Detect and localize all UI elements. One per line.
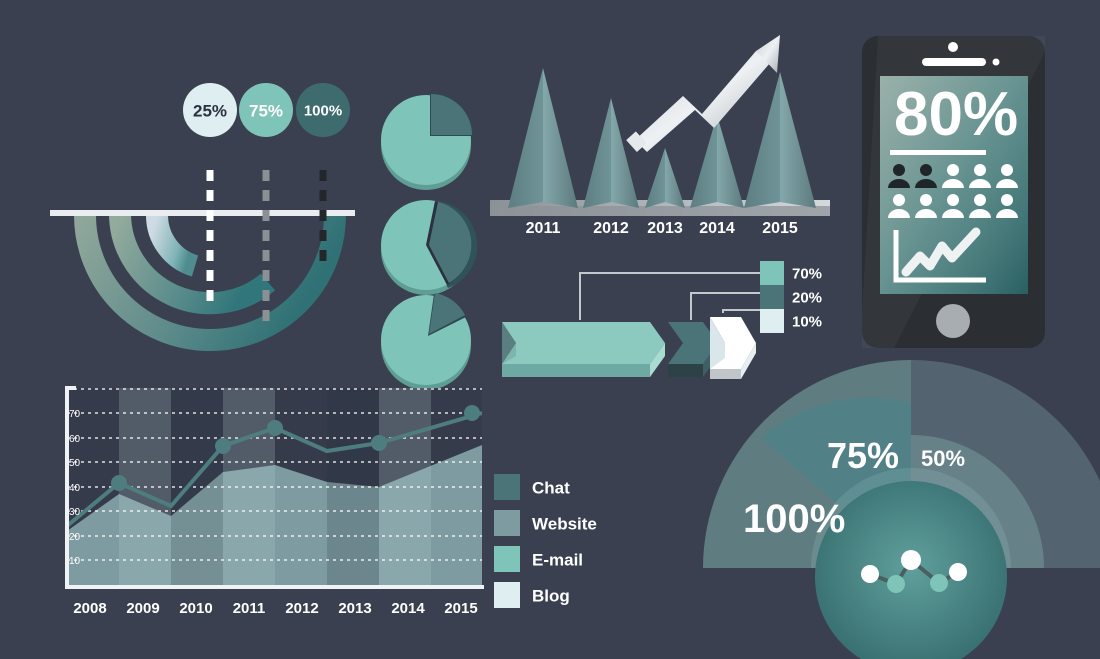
phone-headline: 80% <box>894 80 1018 149</box>
spike-2013[interactable] <box>645 148 685 208</box>
spike-base-side <box>490 206 830 216</box>
line-marker <box>371 435 387 451</box>
core-dot <box>887 575 905 593</box>
arc-baseline <box>50 210 355 216</box>
line-marker <box>215 438 231 454</box>
pie-small-wedge[interactable] <box>381 293 471 390</box>
pie-half[interactable] <box>381 200 477 295</box>
funnel-segment-10[interactable] <box>710 317 756 379</box>
funnel-legend-label-20: 20% <box>792 290 822 307</box>
leader-line-20 <box>691 293 760 320</box>
area-year-2012: 2012 <box>285 600 318 617</box>
spike-chart: 2011 2012 2013 2014 2015 <box>490 30 845 245</box>
core-dot <box>930 574 948 592</box>
leader-line-70 <box>580 273 760 320</box>
ytick-40: 40 <box>69 483 81 494</box>
spike-year-2011: 2011 <box>526 220 561 237</box>
phone-sensor-icon <box>993 59 1000 66</box>
phone-mockup: 80% <box>858 32 1058 362</box>
spike-year-2013: 2013 <box>647 220 683 237</box>
ytick-60: 60 <box>69 434 81 445</box>
area-year-2013: 2013 <box>338 600 371 617</box>
legend-item-blog[interactable]: Blog <box>494 582 570 608</box>
radial-arcs-widget: 25% 75% 100% <box>40 60 380 390</box>
area-year-2015: 2015 <box>444 600 477 617</box>
area-year-2009: 2009 <box>126 600 159 617</box>
area-year-2011: 2011 <box>233 600 266 617</box>
spike-year-2012: 2012 <box>593 220 629 237</box>
phone-home-button[interactable] <box>936 304 970 338</box>
ytick-10: 10 <box>69 556 81 567</box>
legend-label-email: E-mail <box>532 551 583 570</box>
badge-25[interactable]: 25% <box>183 83 237 137</box>
phone-divider <box>890 150 986 155</box>
funnel-legend-swatch-70[interactable] <box>760 261 784 285</box>
infographic-canvas: 25% 75% 100% <box>0 0 1100 659</box>
spike-2011[interactable] <box>508 68 578 208</box>
phone-camera-icon <box>948 42 958 52</box>
area-year-2008: 2008 <box>73 600 106 617</box>
core-dot <box>949 563 967 581</box>
spike-2012[interactable] <box>583 98 639 208</box>
line-marker <box>464 405 480 421</box>
ytick-20: 20 <box>69 532 81 543</box>
funnel-legend-label-10: 10% <box>792 314 822 331</box>
spike-year-2014: 2014 <box>699 220 735 237</box>
spike-2014[interactable] <box>690 115 744 208</box>
gauge-label-50: 50% <box>921 446 965 471</box>
legend-item-website[interactable]: Website <box>494 510 597 536</box>
funnel-bar-chart: 70% 20% 10% <box>498 255 833 380</box>
legend-item-email[interactable]: E-mail <box>494 546 583 572</box>
area-line-chart: 10 20 30 40 50 60 70 2008 2009 2010 2011… <box>42 378 512 623</box>
legend-item-chat[interactable]: Chat <box>494 474 570 500</box>
badge-100-label: 100% <box>304 103 342 120</box>
funnel-segment-70[interactable] <box>502 322 665 377</box>
legend-swatch-website <box>494 510 520 536</box>
badge-25-label: 25% <box>193 102 227 121</box>
ytick-70: 70 <box>69 409 81 420</box>
gauge-label-100: 100% <box>743 497 845 541</box>
legend-label-website: Website <box>532 515 597 534</box>
area-chart-legend: Chat Website E-mail Blog <box>492 468 632 608</box>
funnel-legend: 70% 20% 10% <box>760 261 822 333</box>
legend-swatch-email <box>494 546 520 572</box>
legend-swatch-blog <box>494 582 520 608</box>
radial-gauge-widget: 100% 75% 50% <box>690 382 1080 647</box>
leader-line-10 <box>723 310 760 313</box>
spike-2015[interactable] <box>744 72 816 208</box>
phone-speaker-icon <box>922 58 986 66</box>
pie-charts-column <box>378 45 488 380</box>
line-marker <box>111 475 127 491</box>
funnel-legend-swatch-10[interactable] <box>760 309 784 333</box>
pie-quarter[interactable] <box>381 93 473 190</box>
area-year-2014: 2014 <box>391 600 425 617</box>
funnel-legend-label-70: 70% <box>792 266 822 283</box>
gauge-label-75: 75% <box>827 435 899 476</box>
legend-label-blog: Blog <box>532 587 570 606</box>
core-dot <box>901 550 921 570</box>
line-marker <box>267 420 283 436</box>
ytick-50: 50 <box>69 458 81 469</box>
badge-75[interactable]: 75% <box>239 83 293 137</box>
area-year-2010: 2010 <box>179 600 212 617</box>
legend-swatch-chat <box>494 474 520 500</box>
spike-year-2015: 2015 <box>762 220 798 237</box>
core-dot <box>861 565 879 583</box>
ytick-30: 30 <box>69 507 81 518</box>
legend-label-chat: Chat <box>532 479 570 498</box>
badge-100[interactable]: 100% <box>296 83 350 137</box>
funnel-legend-swatch-20[interactable] <box>760 285 784 309</box>
trend-arrow-icon <box>626 35 780 152</box>
arc-25 <box>157 215 195 266</box>
badge-75-label: 75% <box>249 102 283 121</box>
